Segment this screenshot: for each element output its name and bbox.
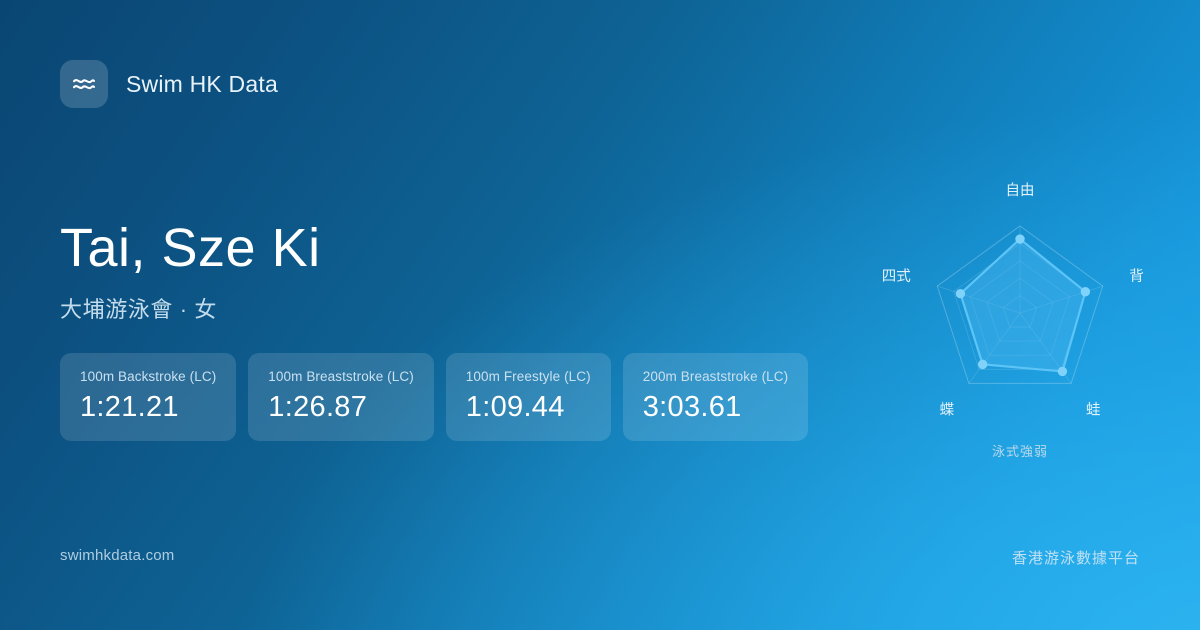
site-tagline: 香港游泳數據平台 [1012, 547, 1140, 568]
share-card: Swim HK Data Tai, Sze Ki 大埔游泳會 · 女 100m … [0, 0, 1200, 630]
radar-data-point [1058, 367, 1066, 375]
stat-value: 3:03.61 [643, 391, 789, 424]
radar-axis-label: 蝶 [940, 401, 955, 418]
radar-data-point [1081, 288, 1089, 296]
stat-card: 100m Backstroke (LC) 1:21.21 [60, 353, 236, 441]
radar-chart-caption: 泳式強弱 [860, 441, 1180, 460]
wave-icon [60, 60, 108, 108]
radar-axis-label: 自由 [1006, 182, 1035, 199]
athlete-header: Tai, Sze Ki 大埔游泳會 · 女 [60, 218, 321, 324]
stat-label: 100m Backstroke (LC) [80, 369, 216, 384]
stat-label: 200m Breaststroke (LC) [643, 369, 789, 384]
radar-axis-label: 四式 [882, 268, 911, 285]
best-times-list: 100m Backstroke (LC) 1:21.21 100m Breast… [60, 353, 808, 441]
stat-card: 100m Breaststroke (LC) 1:26.87 [248, 353, 434, 441]
stat-card: 100m Freestyle (LC) 1:09.44 [446, 353, 611, 441]
stat-card: 200m Breaststroke (LC) 3:03.61 [623, 353, 809, 441]
radar-data-point [956, 289, 964, 297]
radar-axis-label: 背 [1129, 268, 1144, 285]
stat-label: 100m Freestyle (LC) [466, 369, 591, 384]
athlete-meta: 大埔游泳會 · 女 [60, 292, 321, 324]
site-url: swimhkdata.com [60, 547, 175, 564]
radar-data-point [978, 360, 986, 368]
stat-label: 100m Breaststroke (LC) [268, 369, 414, 384]
radar-axis-label: 蛙 [1086, 401, 1101, 418]
brand-header: Swim HK Data [60, 60, 278, 108]
radar-series-area [960, 239, 1085, 371]
radar-data-point [1016, 235, 1024, 243]
stat-value: 1:09.44 [466, 391, 591, 424]
stat-value: 1:21.21 [80, 391, 216, 424]
brand-name: Swim HK Data [126, 71, 278, 98]
stat-value: 1:26.87 [268, 391, 414, 424]
stroke-strength-radar-chart: 自由背蛙蝶四式 [860, 160, 1180, 480]
athlete-name: Tai, Sze Ki [60, 218, 321, 278]
